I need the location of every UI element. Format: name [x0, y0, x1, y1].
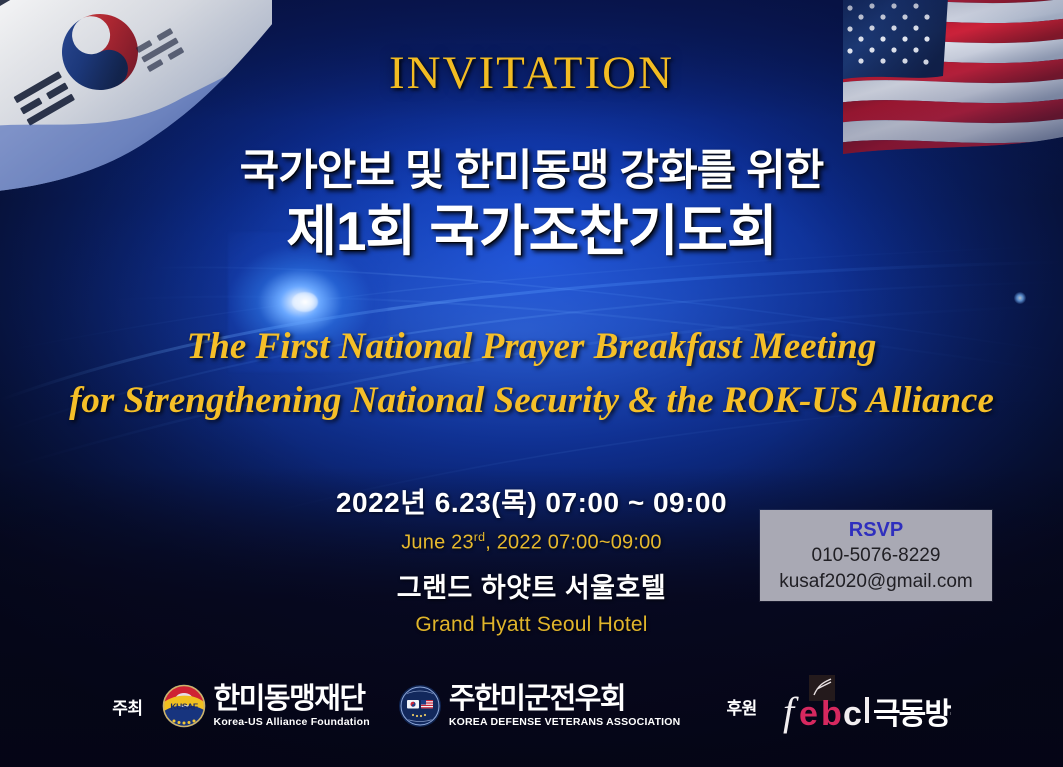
- kdva-emblem-icon: [398, 684, 442, 728]
- svg-text:b: b: [821, 695, 842, 733]
- rsvp-email[interactable]: kusaf2020@gmail.com: [779, 569, 973, 595]
- org-kusaf: KUSAF 한미동맹재단 Korea-US Alliance Foundatio…: [161, 683, 370, 729]
- rsvp-phone[interactable]: 010-5076-8229: [812, 543, 941, 569]
- org-kusaf-name-en: Korea-US Alliance Foundation: [214, 717, 370, 728]
- febc-logo-icon: f e b c 극동방송: [781, 675, 951, 737]
- org-kdva-name-kr: 주한미군전우회: [449, 685, 681, 714]
- footer-organizations: 주최 KUSAF: [0, 670, 1063, 742]
- svg-text:KUSAF: KUSAF: [170, 702, 197, 712]
- rsvp-title: RSVP: [849, 518, 903, 543]
- datetime-english-suffix: , 2022 07:00~09:00: [485, 532, 662, 554]
- korean-title: 국가안보 및 한미동맹 강화를 위한 제1회 국가조찬기도회: [0, 145, 1063, 264]
- page-title: INVITATION: [0, 46, 1063, 100]
- svg-text:e: e: [799, 695, 818, 733]
- sponsor-label: 후원: [726, 694, 756, 719]
- datetime-english-prefix: June 23: [401, 532, 474, 554]
- venue-english: Grand Hyatt Seoul Hotel: [0, 613, 1063, 637]
- english-subtitle-line1: The First National Prayer Breakfast Meet…: [0, 320, 1063, 374]
- kusaf-emblem-icon: KUSAF: [161, 683, 207, 729]
- korean-title-line2: 제1회 국가조찬기도회: [0, 199, 1063, 264]
- org-febc: f e b c 극동방송: [781, 675, 951, 737]
- svg-text:c: c: [843, 695, 862, 733]
- invitation-poster: INVITATION 국가안보 및 한미동맹 강화를 위한 제1회 국가조찬기도…: [0, 0, 1063, 767]
- org-kusaf-text: 한미동맹재단 Korea-US Alliance Foundation: [214, 685, 370, 728]
- febc-name-kr: 극동방송: [873, 698, 951, 731]
- english-subtitle: The First National Prayer Breakfast Meet…: [0, 320, 1063, 428]
- datetime-english-ordinal: rd: [474, 530, 485, 544]
- host-label: 주최: [112, 694, 142, 719]
- korean-title-line1: 국가안보 및 한미동맹 강화를 위한: [0, 145, 1063, 197]
- org-kusaf-name-kr: 한미동맹재단: [214, 685, 370, 714]
- english-subtitle-line2: for Strengthening National Security & th…: [0, 374, 1063, 428]
- org-kdva-name-en: KOREA DEFENSE VETERANS ASSOCIATION: [449, 717, 681, 728]
- org-kdva-text: 주한미군전우회 KOREA DEFENSE VETERANS ASSOCIATI…: [449, 685, 681, 728]
- rsvp-box: RSVP 010-5076-8229 kusaf2020@gmail.com: [760, 510, 992, 601]
- svg-text:f: f: [783, 689, 799, 734]
- org-kdva: 주한미군전우회 KOREA DEFENSE VETERANS ASSOCIATI…: [398, 684, 681, 728]
